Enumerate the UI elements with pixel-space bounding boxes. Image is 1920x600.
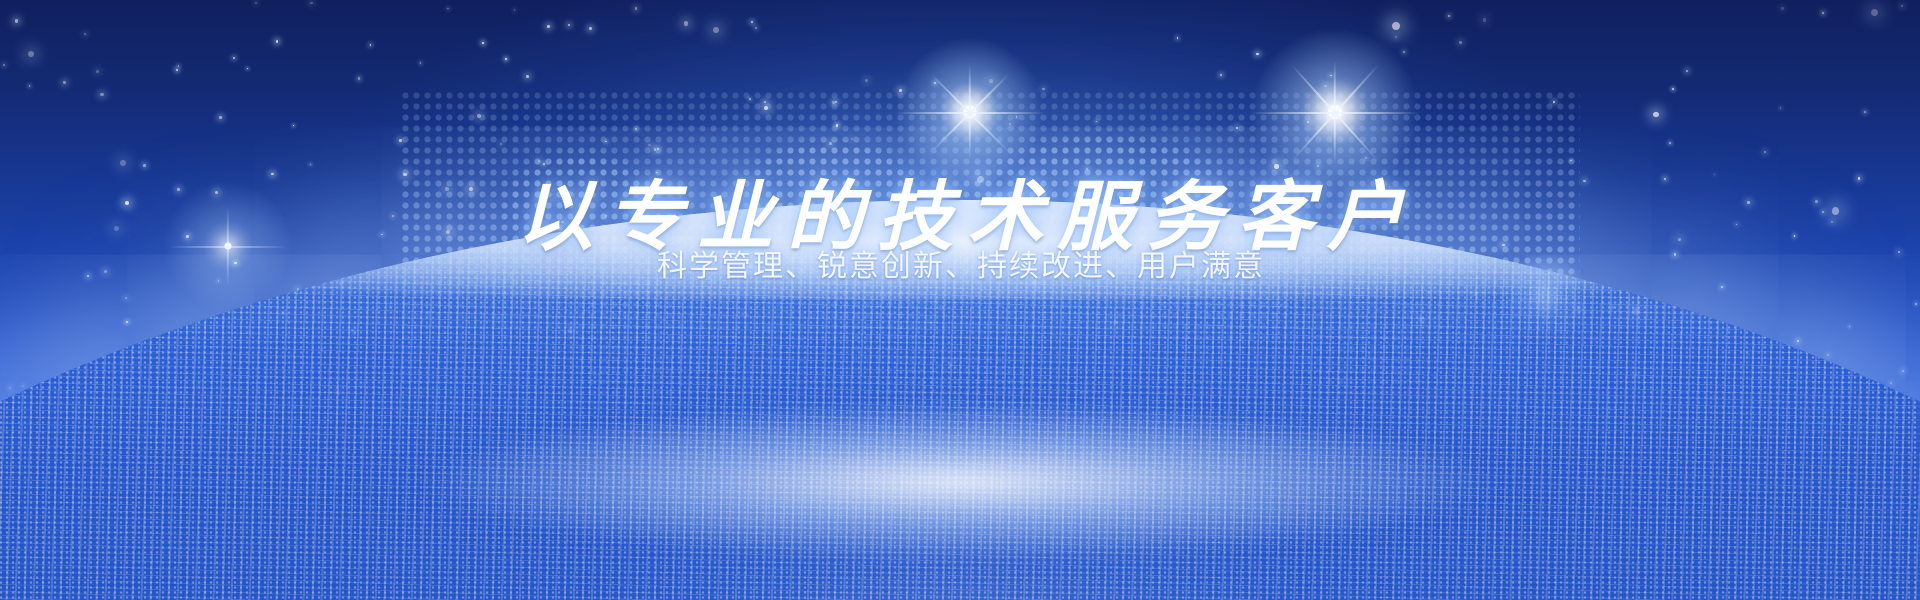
star-icon — [247, 68, 249, 70]
star-icon — [310, 2, 313, 5]
star-icon — [635, 128, 637, 130]
flare-halo — [1250, 27, 1420, 197]
star-icon — [1086, 168, 1088, 170]
star-icon — [1399, 193, 1402, 196]
flare-halo — [895, 37, 1045, 187]
star-icon — [1483, 18, 1487, 22]
flare-ray — [1291, 64, 1379, 162]
flare-ray — [1250, 112, 1420, 114]
star-icon — [1858, 177, 1861, 180]
star-icon — [447, 8, 449, 10]
star-icon — [832, 101, 835, 104]
star-icon — [1764, 151, 1766, 153]
star-icon — [310, 164, 312, 166]
star-icon — [1307, 121, 1310, 124]
star-icon — [1570, 160, 1572, 162]
star-icon — [293, 125, 294, 126]
star-icon — [233, 57, 235, 59]
star-icon — [749, 98, 751, 100]
star-icon — [764, 101, 766, 103]
star-icon — [1256, 53, 1258, 55]
star-icon — [989, 79, 993, 83]
star-icon — [505, 58, 507, 60]
star-icon — [477, 114, 481, 118]
star-icon — [219, 116, 222, 119]
star-icon — [1220, 74, 1222, 76]
star-icon — [1901, 5, 1903, 7]
star-icon — [751, 21, 753, 23]
star-icon — [1669, 142, 1671, 144]
star-icon — [1653, 112, 1658, 117]
star-icon — [1664, 178, 1666, 180]
star-icon — [500, 143, 502, 145]
star-icon — [100, 93, 103, 96]
star-icon — [84, 33, 86, 35]
star-icon — [568, 24, 571, 27]
star-icon — [482, 42, 484, 44]
star-icon — [1177, 37, 1179, 39]
hero-banner: 以专业的技术服务客户 科学管理、锐意创新、持续改进、用户满意 — [0, 0, 1920, 600]
star-icon — [276, 40, 279, 43]
star-icon — [865, 79, 868, 82]
star-icon — [547, 25, 550, 28]
star-icon — [271, 173, 274, 176]
star-icon — [1365, 157, 1367, 159]
star-icon — [1324, 85, 1327, 88]
star-icon — [1672, 88, 1674, 90]
star-icon — [178, 65, 180, 67]
flare-ray — [895, 112, 1045, 114]
star-icon — [63, 81, 66, 84]
star-icon — [1871, 9, 1878, 16]
star-icon — [514, 9, 516, 11]
star-icon — [403, 173, 407, 177]
flare-ray — [1291, 64, 1379, 162]
star-icon — [829, 142, 832, 145]
star-icon — [1864, 111, 1866, 113]
star-icon — [96, 70, 99, 73]
star-icon — [1686, 70, 1689, 73]
star-icon — [1392, 22, 1400, 30]
star-icon — [1236, 127, 1239, 130]
star-icon — [526, 75, 529, 78]
star-icon — [143, 164, 146, 167]
star-icon — [1780, 107, 1782, 109]
star-icon — [836, 124, 838, 126]
star-icon — [215, 191, 218, 194]
star-icon — [1096, 121, 1098, 123]
star-icon — [1042, 88, 1044, 90]
star-icon — [177, 188, 180, 191]
star-icon — [657, 148, 660, 151]
star-icon — [589, 27, 592, 30]
star-icon — [1448, 15, 1450, 17]
star-icon — [635, 7, 638, 10]
star-icon — [3, 64, 5, 66]
star-icon — [543, 163, 545, 165]
star-icon — [977, 176, 984, 183]
star-icon — [994, 196, 996, 198]
star-icon — [835, 101, 837, 103]
star-icon — [29, 85, 31, 87]
star-icon — [1553, 101, 1555, 103]
star-icon — [755, 27, 757, 29]
star-icon — [758, 187, 760, 189]
star-icon — [538, 160, 540, 162]
star-icon — [399, 139, 402, 142]
flare-ray — [1334, 61, 1336, 165]
star-icon — [1317, 165, 1319, 167]
star-icon — [684, 21, 689, 26]
flare-ray — [969, 65, 971, 161]
star-icon — [15, 19, 18, 22]
flare-core — [964, 106, 977, 119]
flare-core — [1328, 105, 1342, 119]
star-icon — [899, 89, 902, 92]
globe-horizon-icon — [0, 200, 1920, 600]
star-icon — [654, 148, 657, 151]
star-icon — [648, 144, 650, 146]
star-icon — [934, 82, 936, 84]
star-icon — [1781, 7, 1783, 9]
star-icon — [1822, 12, 1824, 14]
star-icon — [1330, 75, 1332, 77]
star-icon — [420, 62, 422, 64]
star-icon — [713, 27, 719, 33]
star-icon — [469, 187, 473, 191]
star-icon — [255, 2, 257, 4]
star-icon — [851, 138, 853, 140]
star-icon — [28, 51, 34, 57]
star-icon — [656, 172, 658, 174]
star-icon — [358, 77, 360, 79]
star-icon — [120, 160, 126, 166]
star-icon — [176, 69, 178, 71]
flare-ray — [931, 73, 1010, 152]
star-icon — [1459, 41, 1462, 44]
star-icon — [370, 44, 372, 46]
star-icon — [539, 195, 542, 198]
star-icon — [445, 187, 449, 191]
star-icon — [605, 141, 607, 143]
star-icon — [1009, 123, 1011, 125]
star-icon — [1016, 116, 1017, 117]
star-icon — [1403, 51, 1405, 53]
star-icon — [764, 106, 768, 110]
star-icon — [1714, 174, 1715, 175]
flare-ray — [931, 73, 1010, 152]
star-icon — [1274, 164, 1279, 169]
star-icon — [1583, 180, 1585, 182]
star-icon — [1395, 36, 1397, 38]
